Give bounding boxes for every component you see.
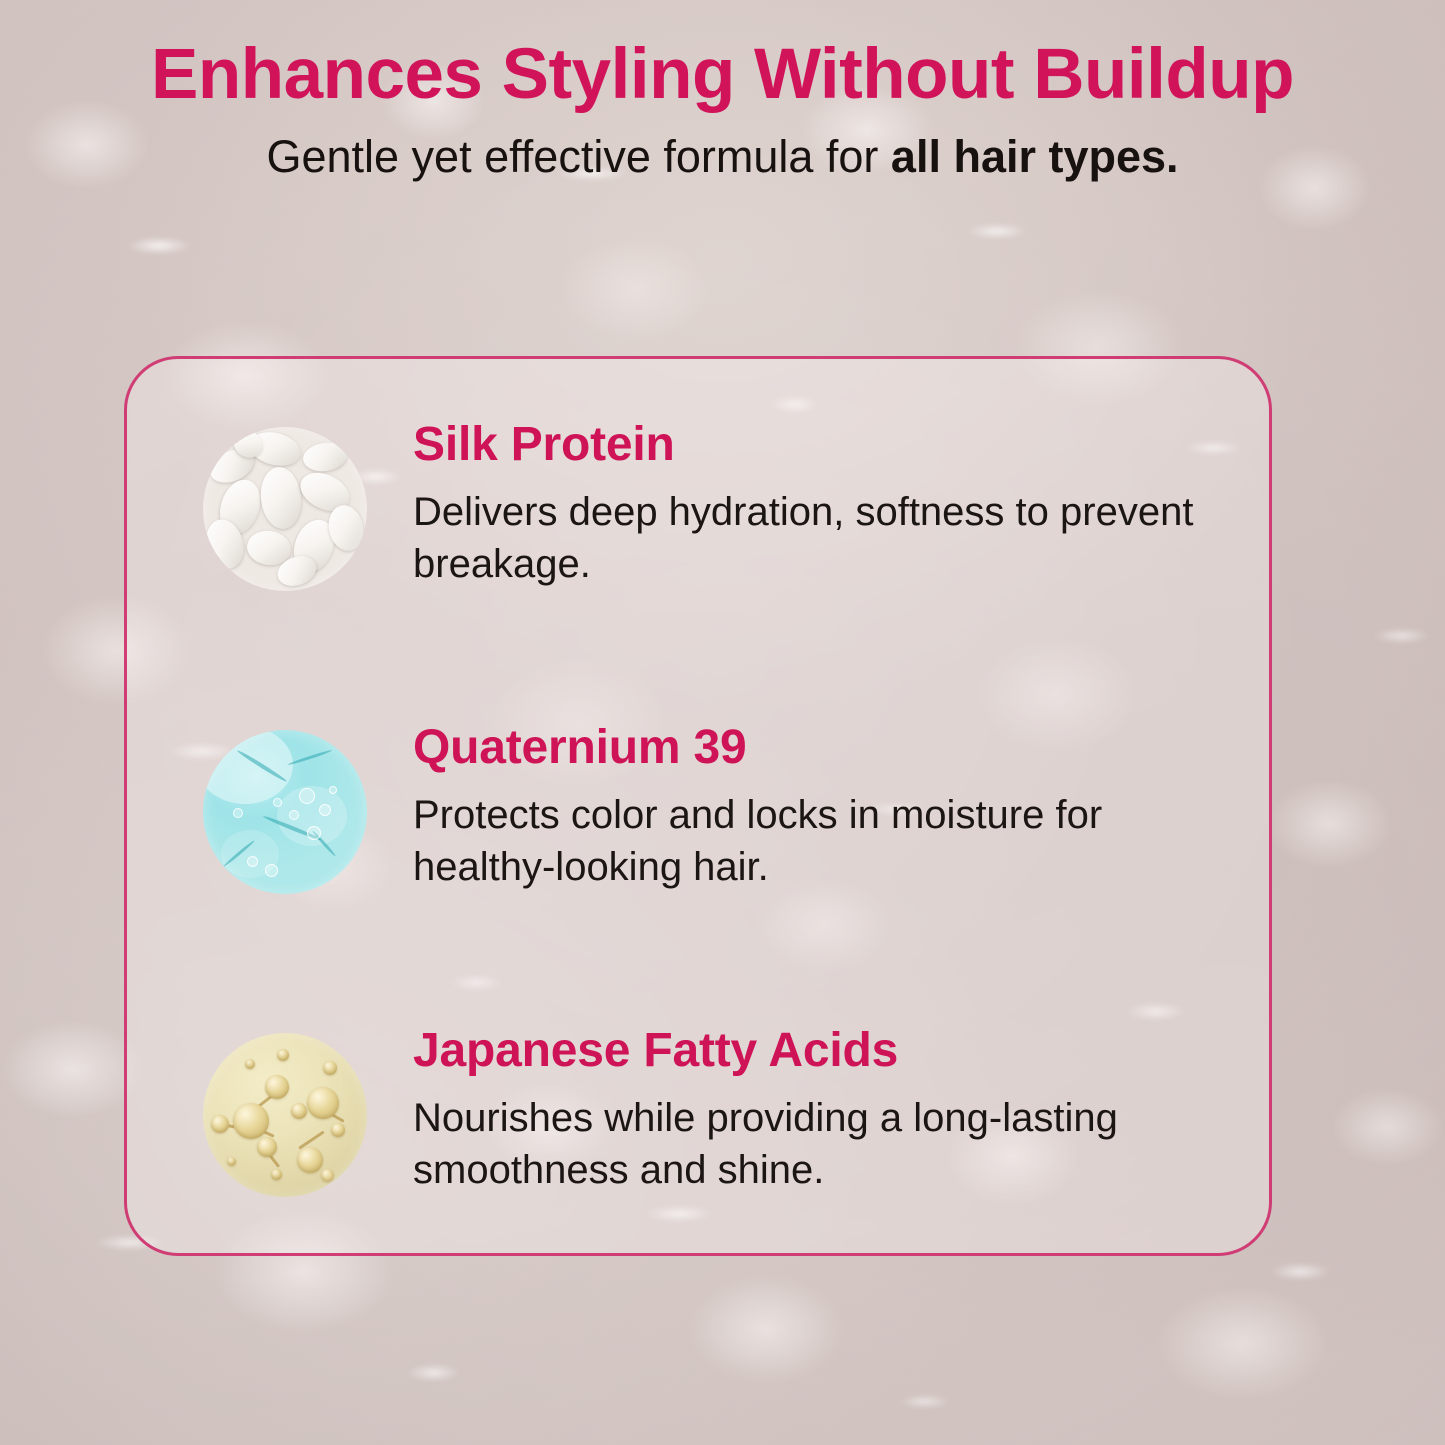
ingredient-item: Quaternium 39 Protects color and locks i…: [203, 718, 1219, 894]
page-title: Enhances Styling Without Buildup: [0, 0, 1445, 116]
ingredient-title: Quaternium 39: [413, 722, 1219, 775]
page-subtitle: Gentle yet effective formula for all hai…: [0, 116, 1445, 183]
ingredient-item: Silk Protein Delivers deep hydration, so…: [203, 415, 1219, 591]
subtitle-bold-text: all hair types.: [891, 131, 1179, 182]
ingredients-card: Silk Protein Delivers deep hydration, so…: [124, 356, 1272, 1256]
turquoise-gel-icon: [203, 730, 367, 894]
ingredient-item: Japanese Fatty Acids Nourishes while pro…: [203, 1021, 1219, 1197]
product-infographic: Enhances Styling Without Buildup Gentle …: [0, 0, 1445, 1445]
ingredient-title: Silk Protein: [413, 419, 1219, 472]
subtitle-regular-text: Gentle yet effective formula for: [266, 131, 890, 182]
ingredient-description: Nourishes while providing a long-lasting…: [413, 1078, 1219, 1196]
ingredient-description: Delivers deep hydration, softness to pre…: [413, 472, 1219, 590]
ingredient-title: Japanese Fatty Acids: [413, 1025, 1219, 1078]
header: Enhances Styling Without Buildup Gentle …: [0, 0, 1445, 183]
ingredient-description: Protects color and locks in moisture for…: [413, 775, 1219, 893]
ingredient-text: Quaternium 39 Protects color and locks i…: [413, 718, 1219, 893]
ingredient-text: Japanese Fatty Acids Nourishes while pro…: [413, 1021, 1219, 1196]
ingredient-text: Silk Protein Delivers deep hydration, so…: [413, 415, 1219, 590]
silk-cocoons-icon: [203, 427, 367, 591]
golden-molecule-icon: [203, 1033, 367, 1197]
